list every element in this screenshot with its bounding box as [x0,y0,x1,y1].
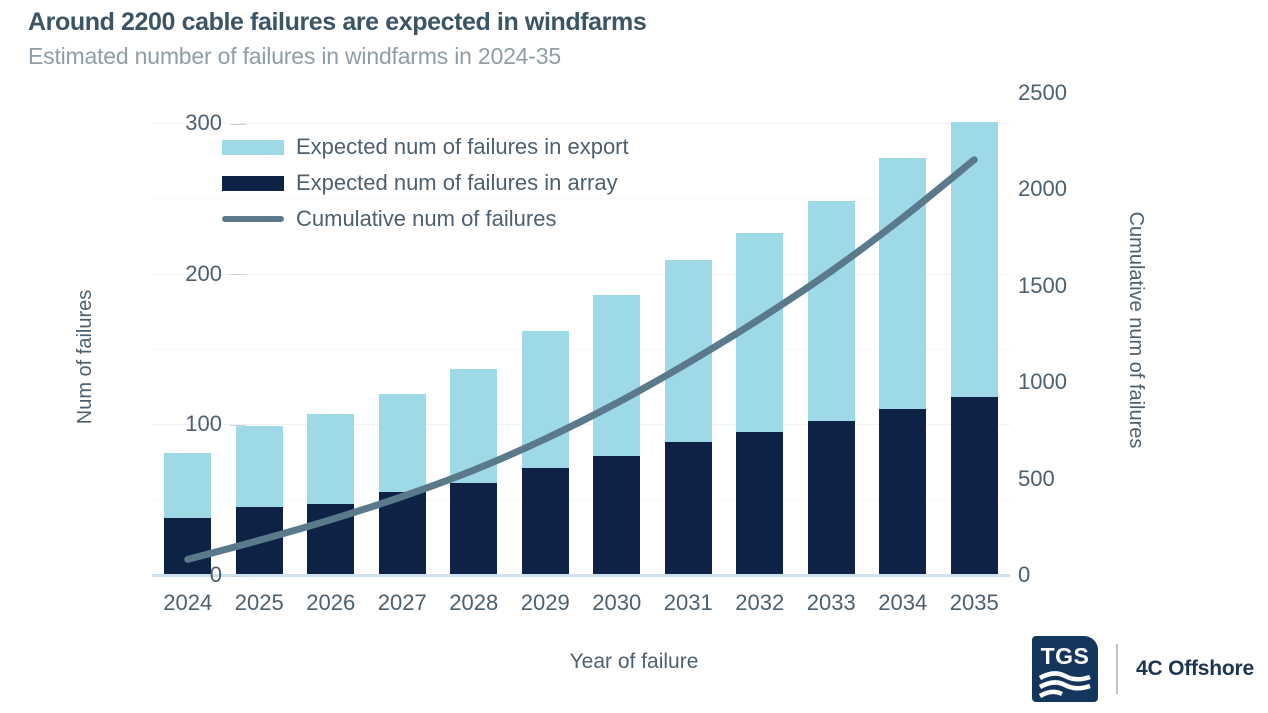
tgs-logo-icon: TGS [1032,636,1098,702]
legend-swatch-icon [222,140,284,155]
y-axis-left-tick: 200 [126,261,246,287]
x-axis-tick-2030: 2030 [592,590,641,616]
x-axis-tick-2025: 2025 [235,590,284,616]
x-axis-tick-2028: 2028 [449,590,498,616]
y-axis-right-tick: 2500 [1018,80,1128,106]
y-axis-right-tick: 1000 [1018,369,1128,395]
x-axis-tick-2033: 2033 [807,590,856,616]
legend-label: Expected num of failures in array [296,170,618,196]
x-axis-tick-2034: 2034 [878,590,927,616]
chart-legend: Expected num of failures in exportExpect… [222,134,629,232]
legend-swatch-icon [222,176,284,191]
legend-label: Cumulative num of failures [296,206,556,232]
legend-label: Expected num of failures in export [296,134,629,160]
y-axis-right-tick: 2000 [1018,176,1128,202]
legend-line-icon [222,216,284,222]
footer-divider [1116,644,1118,694]
axis-baseline [152,574,1010,577]
legend-item[interactable]: Expected num of failures in export [222,134,629,160]
page-title: Around 2200 cable failures are expected … [28,8,646,37]
x-axis-tick-2035: 2035 [950,590,999,616]
chart-page: Around 2200 cable failures are expected … [0,0,1268,713]
y-axis-left-tick: 0 [126,562,246,588]
tgs-waves-icon [1032,668,1098,698]
y-axis-left-tick: 300 [126,110,246,136]
footer-branding: TGS 4C Offshore [1032,636,1254,702]
x-axis-tick-2027: 2027 [378,590,427,616]
brand-name: 4C Offshore [1136,657,1254,681]
y-axis-right-tick: 0 [1018,562,1128,588]
legend-item[interactable]: Expected num of failures in array [222,170,629,196]
y-axis-left-tick: 100 [126,411,246,437]
x-axis-tick-2029: 2029 [521,590,570,616]
page-subtitle: Estimated number of failures in windfarm… [28,43,561,70]
y-axis-right-tick: 1500 [1018,273,1128,299]
x-axis-tick-2032: 2032 [735,590,784,616]
legend-item[interactable]: Cumulative num of failures [222,206,629,232]
y-axis-right-label: Cumulative num of failures [1124,212,1147,449]
tgs-logo-text: TGS [1032,643,1098,670]
x-axis-tick-2026: 2026 [306,590,355,616]
x-axis-tick-2031: 2031 [664,590,713,616]
y-axis-left-label: Num of failures [74,289,97,424]
x-axis-tick-2024: 2024 [163,590,212,616]
y-axis-right-tick: 500 [1018,466,1128,492]
